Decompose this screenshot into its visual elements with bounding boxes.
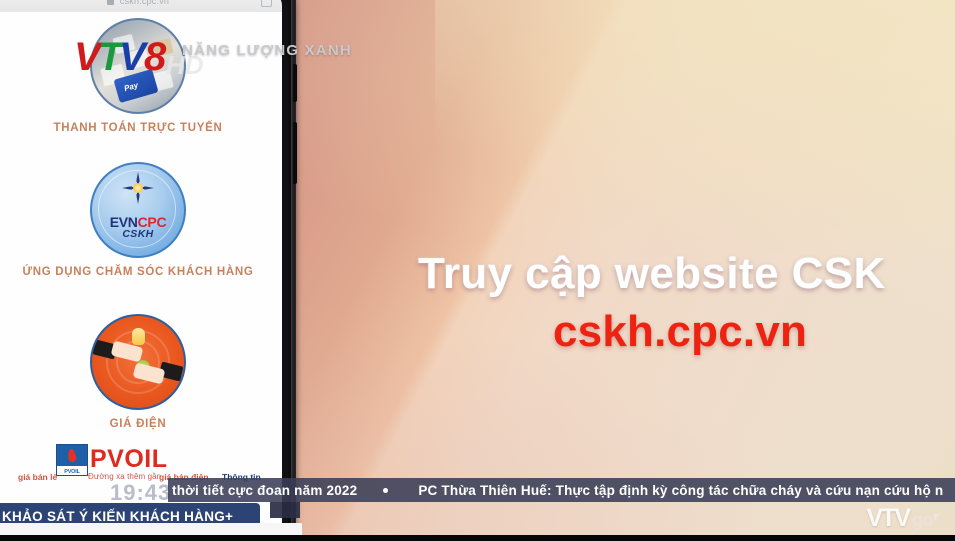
app-label-cskh: ỨNG DỤNG CHĂM SÓC KHÁCH HÀNG	[0, 266, 282, 278]
app-label-electricity-price: GIÁ ĐIỆN	[0, 418, 282, 430]
electricity-price-icon	[90, 314, 186, 410]
ticker-item-0: thời tiết cực đoan năm 2022	[168, 483, 357, 498]
cskh-text: CSKH	[92, 228, 184, 240]
pvoil-mark-text: PVOIL	[57, 469, 87, 475]
phone-volume-button[interactable]	[293, 64, 297, 102]
phone-power-button[interactable]	[293, 122, 297, 184]
pvoil-logo-icon: PVOIL	[56, 444, 88, 476]
bottom-letterbox	[0, 535, 955, 541]
lightbulb-icon	[132, 328, 145, 345]
nav-item-retail-price[interactable]: giá bán lẻ	[18, 472, 57, 482]
ticker-nub	[270, 502, 300, 518]
tabs-icon[interactable]	[261, 0, 272, 7]
svg-text:8: 8	[144, 35, 167, 79]
flame-icon	[67, 449, 77, 463]
browser-url-text: cskh.cpc.vn	[120, 0, 169, 6]
app-label-online-payment: THANH TOÁN TRỰC TUYẾN	[0, 122, 282, 134]
news-ticker: thời tiết cực đoan năm 2022 PC Thừa Thiê…	[168, 478, 955, 502]
tv-broadcast-screenshot: Truy cập website CSK cskh.cpc.vn VTV go …	[0, 0, 955, 541]
lock-icon	[107, 0, 114, 5]
survey-banner-text: KHẢO SÁT Ý KIẾN KHÁCH HÀNG+	[2, 509, 233, 524]
phone-bottom-white-strip	[0, 523, 302, 535]
pvoil-wordmark: PVOIL	[90, 445, 168, 474]
ticker-item-1: PC Thừa Thiên Huế: Thực tập định kỳ công…	[414, 483, 943, 498]
phone-page-content: Pay THANH TOÁN TRỰC TUYẾN EVNCPC CSKH ỨN…	[0, 12, 282, 540]
program-title: NĂNG LƯỢNG XANH	[182, 42, 352, 59]
app-item-electricity-price[interactable]: GIÁ ĐIỆN	[0, 314, 282, 430]
app-item-cskh[interactable]: EVNCPC CSKH ỨNG DỤNG CHĂM SÓC KHÁCH HÀNG	[0, 162, 282, 278]
ticker-separator-dot	[383, 488, 388, 493]
evncpc-cskh-icon: EVNCPC CSKH	[90, 162, 186, 258]
